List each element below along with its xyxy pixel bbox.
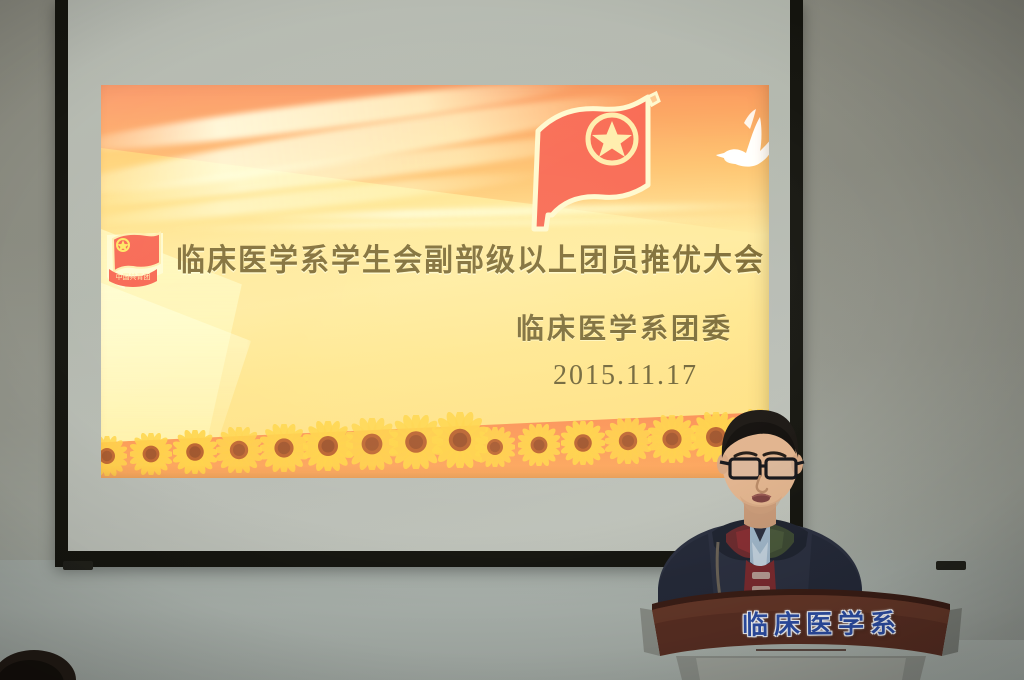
screen-foot-right	[936, 561, 966, 570]
slide-date: 2015.11.17	[553, 360, 698, 392]
sunflower-icon	[173, 430, 217, 474]
sunflower-icon	[475, 427, 515, 467]
white-dove-icon	[714, 105, 769, 183]
sunflower-icon	[130, 433, 172, 475]
slide-title: 临床医学系学生会副部级以上团员推优大会	[176, 236, 766, 281]
red-flag-icon	[516, 89, 686, 239]
slide-subtitle: 临床医学系团委	[516, 307, 733, 347]
photo-scene: 中国共青团 临床医学系学生会副部级以上团员推优大会 临床医学系团委 2015.1…	[0, 0, 1024, 680]
sunflower-icon	[101, 436, 127, 476]
sunflower-icon	[216, 427, 262, 473]
sunflower-icon	[561, 421, 605, 465]
sunflower-icon	[518, 424, 560, 466]
podium-label: 临床医学系	[710, 603, 934, 642]
sunflower-icon	[260, 424, 308, 472]
youth-league-badge-icon: 中国共青团	[103, 227, 167, 299]
audience-member-head	[0, 632, 78, 680]
svg-text:中国共青团: 中国共青团	[116, 272, 151, 281]
screen-foot-left	[63, 561, 93, 570]
